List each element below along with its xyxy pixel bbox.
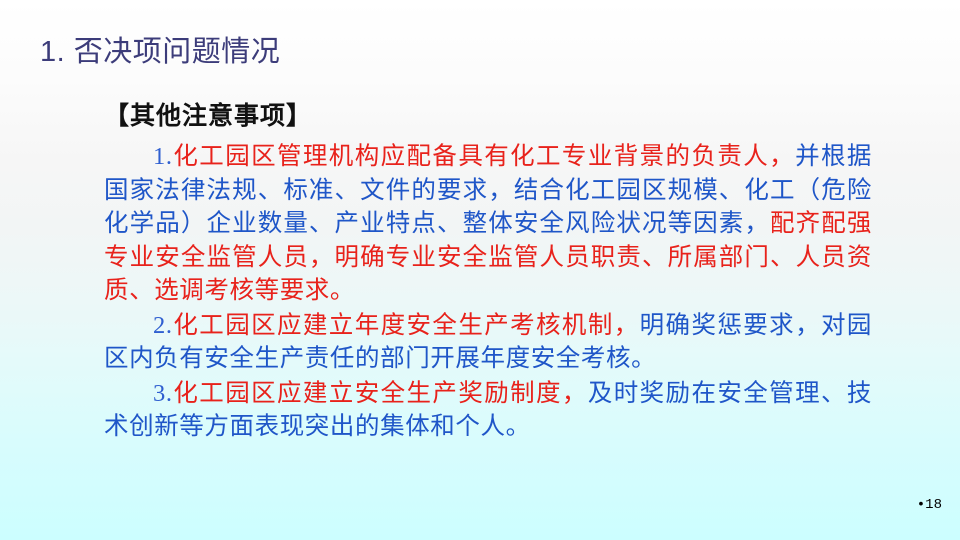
paragraph-list: 1.化工园区管理机构应配备具有化工专业背景的负责人，并根据国家法律法规、标准、文… [104,140,872,444]
paragraph-number: 1. [153,143,173,170]
paragraph-run-red: 化工园区管理机构应配备具有化工专业背景的负责人， [173,143,796,170]
paragraph-number: 3. [153,380,173,407]
paragraph-run-red: 化工园区应建立年度安全生产考核机制， [173,312,640,339]
page-number: •18 [917,497,942,513]
paragraph: 3.化工园区应建立安全生产奖励制度，及时奖励在安全管理、技术创新等方面表现突出的… [104,377,872,444]
paragraph: 1.化工园区管理机构应配备具有化工专业背景的负责人，并根据国家法律法规、标准、文… [104,140,872,308]
body-content: 【其他注意事项】 1.化工园区管理机构应配备具有化工专业背景的负责人，并根据国家… [104,100,872,445]
slide-canvas: 1. 否决项问题情况 【其他注意事项】 1.化工园区管理机构应配备具有化工专业背… [0,0,960,540]
paragraph: 2.化工园区应建立年度安全生产考核机制，明确奖惩要求，对园区内负有安全生产责任的… [104,309,872,376]
paragraph-number: 2. [153,312,173,339]
page-title: 1. 否决项问题情况 [40,33,280,71]
section-heading: 【其他注意事项】 [104,100,872,134]
paragraph-run-red: 化工园区应建立安全生产奖励制度， [173,380,588,407]
